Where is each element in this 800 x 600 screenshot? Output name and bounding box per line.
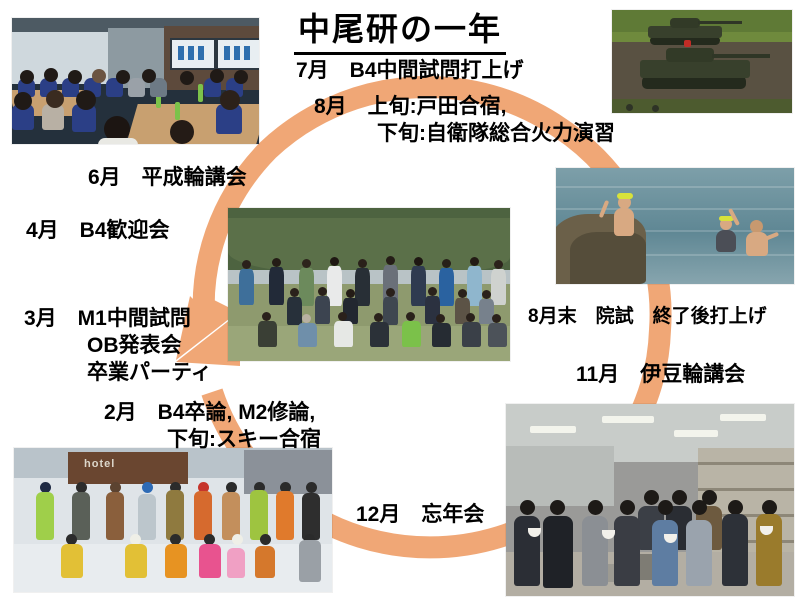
caption-december: 12月 忘年会	[356, 502, 484, 529]
slide-canvas: 中尾研の一年	[0, 0, 800, 600]
photo-sea-snorkeling	[556, 168, 794, 284]
photo-year-end-party	[506, 404, 794, 596]
photo-ski-camp-group: hotel	[14, 448, 332, 592]
page-title-text: 中尾研の一年	[294, 4, 506, 55]
caption-july: 7月 B4中間試問打上げ	[296, 58, 524, 85]
caption-april: 4月 B4歓迎会	[26, 218, 170, 245]
caption-february: 2月 B4卒論, M2修論, 下旬:スキー合宿	[104, 400, 321, 454]
ski-lodge-sign: hotel	[84, 458, 115, 470]
caption-august: 8月 上旬:戸田合宿, 下旬:自衛隊総合火力演習	[314, 94, 615, 148]
caption-august-end: 8月末 院試 終了後打上げ	[528, 305, 767, 329]
caption-june: 6月 平成輪講会	[88, 165, 247, 192]
photo-summer-camp-group	[228, 208, 510, 361]
caption-march: 3月 M1中間試問 OB発表会 卒業パーティ	[24, 306, 212, 387]
page-title: 中尾研の一年	[0, 4, 800, 55]
caption-november: 11月 伊豆輪講会	[576, 362, 745, 389]
